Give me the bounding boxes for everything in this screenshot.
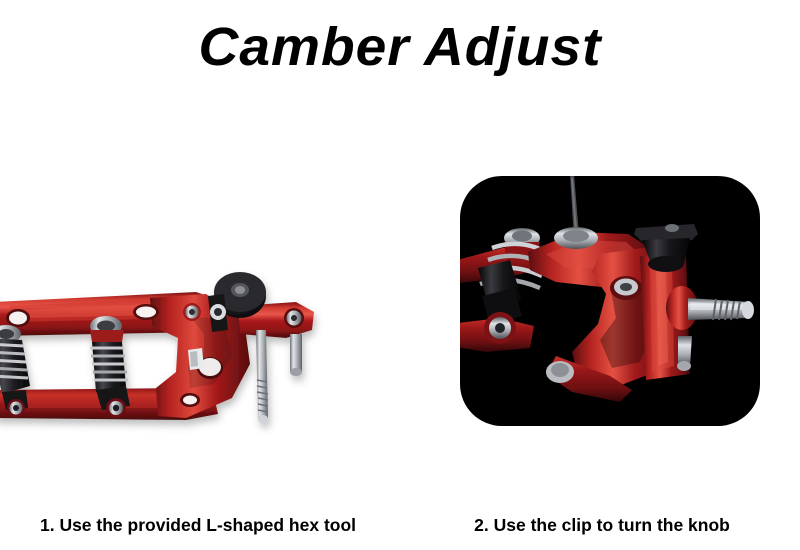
upper-arm-ball-center [563, 230, 589, 242]
knob-screw [665, 224, 679, 232]
suspension-arm-illustration [0, 268, 340, 458]
arm-assembly [0, 272, 314, 423]
left-mount-hole [9, 312, 27, 325]
shock-absorber [478, 228, 546, 344]
caption-step-1-line-1: 1. Use the provided L-shaped hex tool [0, 514, 396, 537]
adjuster-block-gloss [656, 267, 668, 366]
threaded-shaft [256, 330, 268, 423]
link-pivot-hex [214, 308, 222, 316]
shock-center-collar [90, 330, 124, 342]
shock-eyelet-hex [495, 323, 505, 333]
knob-screw-head [235, 286, 245, 294]
right-ear-bore-inner [291, 315, 297, 321]
lower-pivot-pin [677, 336, 692, 371]
shock-center-cap-center [97, 321, 115, 332]
pin-end [677, 361, 691, 371]
knob-base [648, 256, 684, 272]
caption-step-1: 1. Use the provided L-shaped hex tool to… [0, 468, 396, 550]
page-title: Camber Adjust [0, 18, 800, 76]
mid-mount-hole [136, 307, 156, 318]
pin-body [290, 334, 302, 372]
camber-knob-illustration [460, 176, 760, 426]
knuckle-bore-inner [620, 283, 632, 291]
lower-brace-pin-face [551, 363, 569, 377]
caption-step-2: 2. Use the clip to turn the knob to adju… [404, 468, 800, 550]
shock-left-bolt-hex [13, 405, 19, 411]
rail-screw-hex [189, 309, 195, 315]
lower-mount-hole [183, 396, 197, 405]
shaft-tip [742, 301, 754, 319]
figure-suspension-arm [0, 268, 340, 458]
figure-camber-knob [460, 176, 760, 426]
caption-step-2-line-1: 2. Use the clip to turn the knob [404, 514, 800, 537]
shaft-body [256, 330, 268, 420]
threaded-turnbuckle-shaft [666, 286, 754, 330]
shock-center-bolt-hex [113, 405, 119, 411]
shock-cap-center [512, 231, 532, 242]
pivot-pin [290, 334, 302, 376]
instruction-page: Camber Adjust [0, 0, 800, 550]
shaft-tip [258, 415, 268, 423]
silver-block-shade [190, 351, 198, 367]
shock-absorber-left [0, 325, 30, 417]
pin-end [290, 368, 302, 376]
